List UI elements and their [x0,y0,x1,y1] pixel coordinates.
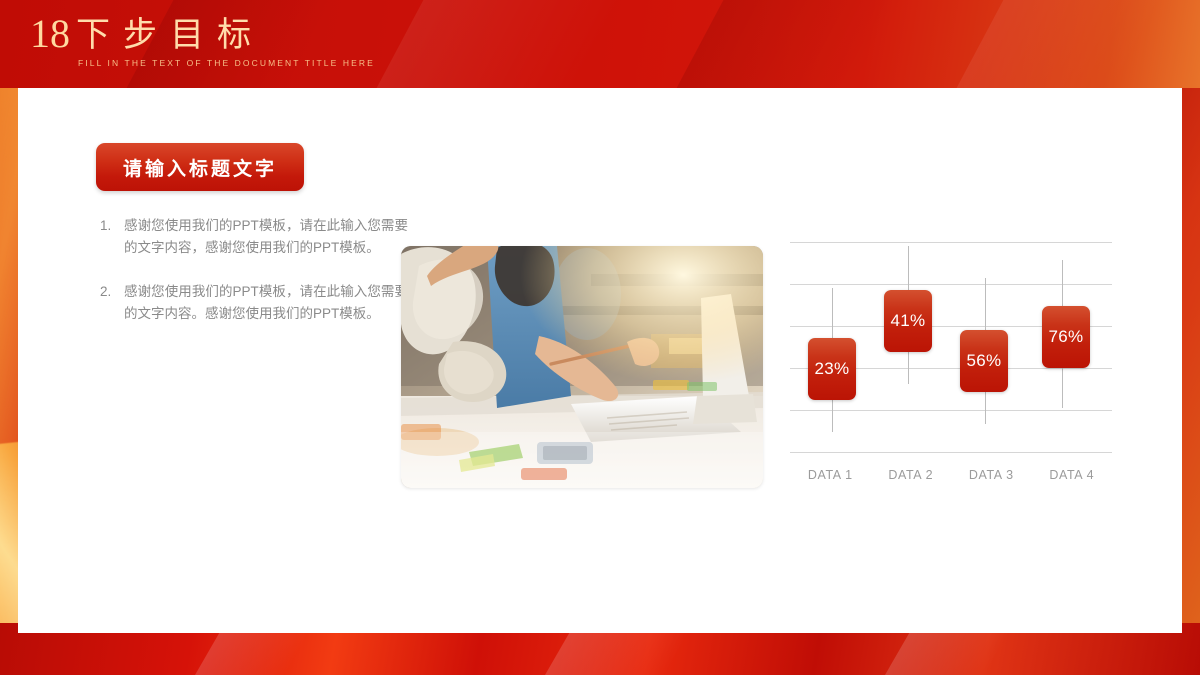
page-number: 18 [30,14,70,54]
page-subtitle: FILL IN THE TEXT OF THE DOCUMENT TITLE H… [78,58,375,68]
candlestick-chart: 23% 41% 56% 76% DATA 1 DATA 2 DATA 3 DAT… [790,234,1112,486]
axis-label-data-2: DATA 2 [871,468,952,482]
header-streak-light-2 [957,0,1164,88]
header-streak-dark-2 [677,0,904,88]
data-box-2[interactable]: 41% [884,290,932,352]
data-box-3[interactable]: 56% [960,330,1008,392]
gridline [790,410,1112,411]
list-item-number: 1. [96,215,124,259]
left-content-column: 请输入标题文字 1. 感谢您使用我们的PPT模板，请在此输入您需要的文字内容，感… [96,143,408,347]
gridline [790,242,1112,243]
data-box-4[interactable]: 76% [1042,306,1090,368]
slide-header: 18 下步目标 FILL IN THE TEXT OF THE DOCUMENT… [0,0,1200,88]
axis-label-data-1: DATA 1 [790,468,871,482]
slide: 18 下步目标 FILL IN THE TEXT OF THE DOCUMENT… [0,0,1200,675]
category-axis: DATA 1 DATA 2 DATA 3 DATA 4 [790,468,1112,482]
list-item-text: 感谢您使用我们的PPT模板，请在此输入您需要的文字内容。感谢您使用我们的PPT模… [124,281,408,325]
axis-label-data-4: DATA 4 [1032,468,1113,482]
list-item-number: 2. [96,281,124,325]
data-box-1[interactable]: 23% [808,338,856,400]
bullet-list: 1. 感谢您使用我们的PPT模板，请在此输入您需要的文字内容，感谢您使用我们的P… [96,215,408,325]
section-title-button[interactable]: 请输入标题文字 [96,143,304,191]
photo-illustration [401,246,763,488]
page-title: 下步目标 [76,16,264,54]
list-item: 1. 感谢您使用我们的PPT模板，请在此输入您需要的文字内容，感谢您使用我们的P… [96,215,408,259]
data-box-label: 23% [815,359,850,379]
list-item: 2. 感谢您使用我们的PPT模板，请在此输入您需要的文字内容。感谢您使用我们的P… [96,281,408,325]
axis-label-data-3: DATA 3 [951,468,1032,482]
office-teamwork-photo [401,246,763,488]
data-box-label: 76% [1049,327,1084,347]
list-item-text: 感谢您使用我们的PPT模板，请在此输入您需要的文字内容，感谢您使用我们的PPT模… [124,215,408,259]
header-streak-light-1 [377,0,624,88]
data-box-label: 56% [967,351,1002,371]
header-title-block: 18 下步目标 FILL IN THE TEXT OF THE DOCUMENT… [30,14,375,68]
gridline [790,284,1112,285]
title-line: 18 下步目标 [30,14,375,54]
gridline [790,452,1112,453]
data-box-label: 41% [891,311,926,331]
section-title-label: 请输入标题文字 [123,154,277,181]
